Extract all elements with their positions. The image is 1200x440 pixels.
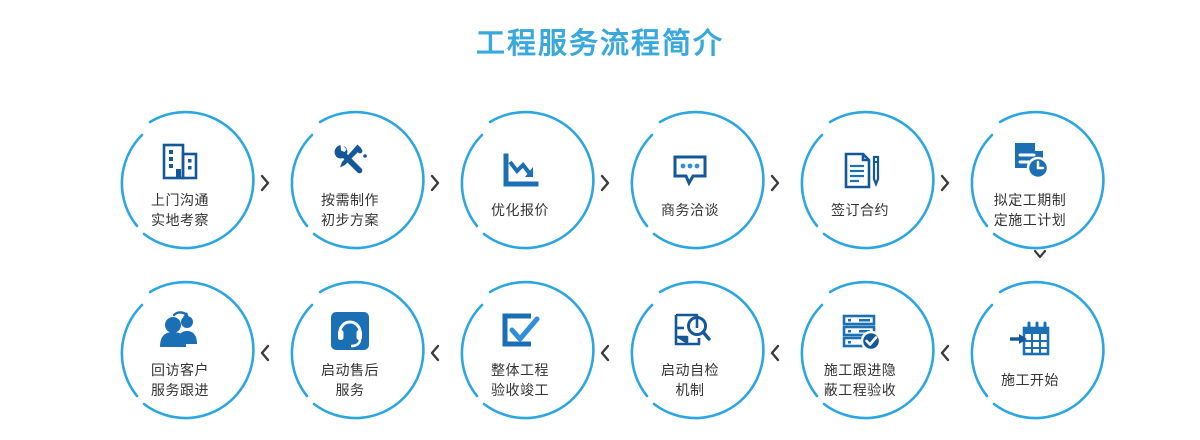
flow-step-label-line1: 施工开始	[1001, 370, 1059, 390]
flow-step[interactable]: 施工开始	[954, 277, 1106, 429]
flow-step-label-line1: 优化报价	[491, 200, 549, 220]
speech-bubble-icon	[664, 146, 716, 194]
chevron-left-icon	[596, 277, 614, 429]
flow-step-label-line1: 商务洽谈	[661, 200, 719, 220]
chevron-left-icon	[256, 277, 274, 429]
chevron-left-icon	[766, 277, 784, 429]
document-search-icon	[664, 306, 716, 354]
flow-step-label-line1: 签订合约	[831, 200, 889, 220]
flow-step-label-line1: 上门沟通	[151, 190, 209, 210]
flow-step-label-line2: 蔽工程验收	[824, 380, 897, 400]
process-flow-infographic: 工程服务流程简介 上门沟通实地考察按需制作初步方案优化报价商务洽谈签订合约拟定工…	[0, 0, 1200, 440]
tools-icon	[324, 136, 376, 184]
chevron-right-icon	[596, 107, 614, 259]
flow-row-top: 上门沟通实地考察按需制作初步方案优化报价商务洽谈签订合约拟定工期制定施工计划	[0, 98, 1200, 268]
flow-step[interactable]: 优化报价	[444, 107, 596, 259]
chevron-right-icon	[766, 107, 784, 259]
page-title: 工程服务流程简介	[0, 24, 1200, 64]
checkbox-check-icon	[494, 306, 546, 354]
flow-step[interactable]: 整体工程验收竣工	[444, 277, 596, 429]
flow-step-label-line1: 启动自检	[661, 360, 719, 380]
flow-step-label-line2: 机制	[676, 380, 705, 400]
flow-step-label-line1: 施工跟进隐	[824, 360, 897, 380]
flow-step-label-line1: 按需制作	[321, 190, 379, 210]
flow-step[interactable]: 施工跟进隐蔽工程验收	[784, 277, 936, 429]
chevron-right-icon	[256, 107, 274, 259]
chevron-right-icon	[936, 107, 954, 259]
chart-down-icon	[494, 146, 546, 194]
chevron-left-icon	[426, 277, 444, 429]
flow-step[interactable]: 启动售后服务	[274, 277, 426, 429]
calendar-start-icon	[1004, 316, 1056, 364]
chevron-down-icon	[1030, 246, 1050, 262]
server-check-icon	[834, 306, 886, 354]
headset-icon	[324, 306, 376, 354]
flow-step-label-line2: 实地考察	[151, 210, 209, 230]
chevron-right-icon	[426, 107, 444, 259]
flow-step[interactable]: 商务洽谈	[614, 107, 766, 259]
flow-step[interactable]: 上门沟通实地考察	[104, 107, 256, 259]
flow-step[interactable]: 启动自检机制	[614, 277, 766, 429]
flow-step[interactable]: 签订合约	[784, 107, 936, 259]
flow-step-label-line1: 拟定工期制	[994, 190, 1067, 210]
chevron-left-icon	[936, 277, 954, 429]
contract-pen-icon	[834, 146, 886, 194]
flow-step[interactable]: 按需制作初步方案	[274, 107, 426, 259]
flow-step-label-line2: 服务	[336, 380, 365, 400]
flow-step-label-line1: 整体工程	[491, 360, 549, 380]
document-clock-icon	[1004, 136, 1056, 184]
flow-step[interactable]: 回访客户服务跟进	[104, 277, 256, 429]
flow-row-bottom: 回访客户服务跟进启动售后服务整体工程验收竣工启动自检机制施工跟进隐蔽工程验收施工…	[0, 268, 1200, 438]
building-icon	[154, 136, 206, 184]
users-icon	[154, 306, 206, 354]
flow-step[interactable]: 拟定工期制定施工计划	[954, 107, 1106, 259]
flow-step-label-line1: 回访客户	[151, 360, 209, 380]
flow-step-label-line1: 启动售后	[321, 360, 379, 380]
flow-step-label-line2: 定施工计划	[994, 210, 1067, 230]
flow-step-label-line2: 服务跟进	[151, 380, 209, 400]
flow-step-label-line2: 初步方案	[321, 210, 379, 230]
flow-step-label-line2: 验收竣工	[491, 380, 549, 400]
